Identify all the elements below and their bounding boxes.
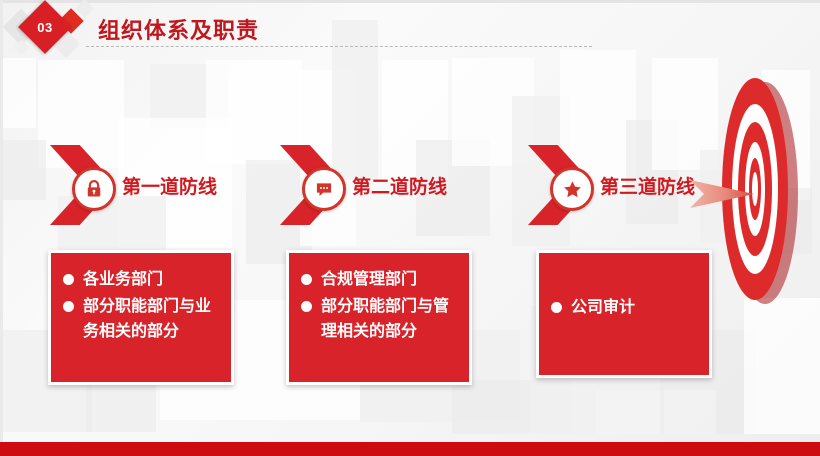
defense-line-2-box[interactable]: 合规管理部门 部分职能部门与管理相关的部分 <box>286 250 472 385</box>
list-item-text: 合规管理部门 <box>321 267 459 292</box>
list-item: 合规管理部门 <box>301 267 459 292</box>
slide-header: 03 组织体系及职责 <box>0 0 820 58</box>
lock-icon <box>72 167 116 211</box>
list-item: 各业务部门 <box>63 267 221 292</box>
bullet-dot <box>63 274 74 285</box>
defense-line-1-label: 第一道防线 <box>122 172 217 199</box>
footer-red-bar <box>0 442 820 456</box>
list-item-text: 部分职能部门与管理相关的部分 <box>321 294 459 344</box>
arrow-hitting-target-icon <box>686 176 756 212</box>
defense-line-3-label: 第三道防线 <box>600 172 695 199</box>
header-divider <box>86 46 592 47</box>
list-item-text: 各业务部门 <box>83 267 221 292</box>
list-item-text: 公司审计 <box>571 295 699 320</box>
defense-line-2-header[interactable]: 第二道防线 <box>280 145 510 225</box>
defense-line-2-label: 第二道防线 <box>352 172 447 199</box>
list-item: 公司审计 <box>551 295 699 320</box>
defense-line-3-box[interactable]: 公司审计 <box>536 250 712 378</box>
bullet-dot <box>301 301 312 312</box>
bullet-dot <box>551 302 562 313</box>
defense-line-1-header[interactable]: 第一道防线 <box>50 145 280 225</box>
star-icon <box>550 167 594 211</box>
page-title: 组织体系及职责 <box>98 13 259 45</box>
section-number: 03 <box>26 8 64 46</box>
speech-bubble-icon <box>302 167 346 211</box>
left-edge-line <box>0 0 3 456</box>
background-blocks <box>0 0 820 456</box>
slide-canvas: 03 组织体系及职责 第一道防线 第二道防线 <box>0 0 820 456</box>
list-item: 部分职能部门与管理相关的部分 <box>301 294 459 344</box>
defense-line-1-box[interactable]: 各业务部门 部分职能部门与业务相关的部分 <box>48 250 234 385</box>
list-item: 部分职能部门与业务相关的部分 <box>63 294 221 344</box>
section-number-badge: 03 <box>18 0 72 54</box>
bullet-dot <box>301 274 312 285</box>
list-item-text: 部分职能部门与业务相关的部分 <box>83 294 221 344</box>
bullseye-target-icon <box>718 78 804 306</box>
bullet-dot <box>63 301 74 312</box>
